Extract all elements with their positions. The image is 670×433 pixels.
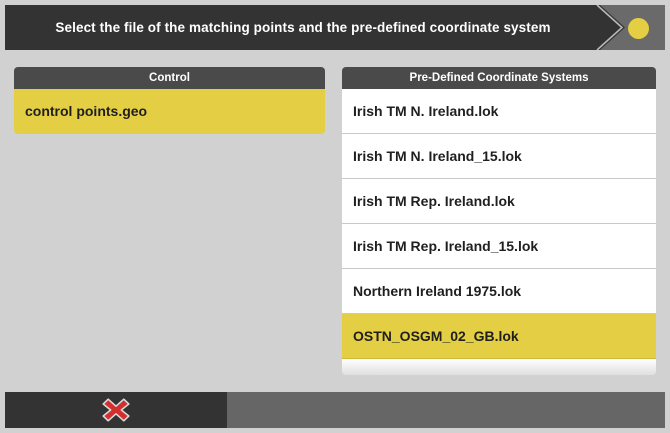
- list-item[interactable]: Northern Ireland 1975.lok: [342, 269, 656, 314]
- status-indicator-dot[interactable]: [628, 18, 649, 39]
- list-item[interactable]: Irish TM N. Ireland.lok: [342, 89, 656, 134]
- list-item-control-points[interactable]: control points.geo: [14, 89, 325, 134]
- list-item[interactable]: Irish TM N. Ireland_15.lok: [342, 134, 656, 179]
- control-panel: Control control points.geo: [14, 67, 325, 134]
- cancel-button[interactable]: [5, 392, 227, 428]
- bottom-toolbar: [5, 392, 665, 428]
- list-item[interactable]: Irish TM Rep. Ireland.lok: [342, 179, 656, 224]
- application-window: Select the file of the matching points a…: [0, 0, 670, 433]
- list-item-partial[interactable]: [342, 359, 656, 375]
- list-item-selected[interactable]: OSTN_OSGM_02_GB.lok: [342, 314, 656, 359]
- coordinate-systems-list[interactable]: Irish TM N. Ireland.lok Irish TM N. Irel…: [342, 89, 656, 395]
- page-title: Select the file of the matching points a…: [5, 5, 601, 50]
- title-bar: Select the file of the matching points a…: [5, 5, 665, 50]
- coordinate-systems-panel-header: Pre-Defined Coordinate Systems: [342, 67, 656, 89]
- control-panel-header: Control: [14, 67, 325, 89]
- list-item[interactable]: Irish TM Rep. Ireland_15.lok: [342, 224, 656, 269]
- coordinate-systems-panel: Pre-Defined Coordinate Systems Irish TM …: [342, 67, 656, 395]
- close-x-icon: [101, 397, 131, 423]
